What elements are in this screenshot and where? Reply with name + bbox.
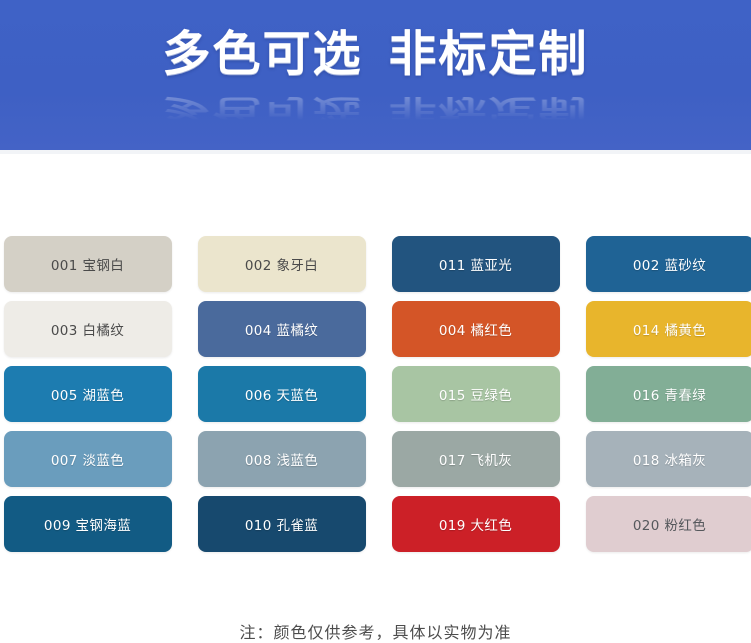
color-swatch-009-16[interactable]: 009 宝钢海蓝 [4, 496, 172, 552]
color-swatch-label: 009 宝钢海蓝 [44, 514, 131, 534]
color-swatch-label: 020 粉红色 [633, 514, 706, 534]
color-swatch-015-10[interactable]: 015 豆绿色 [392, 366, 560, 422]
color-swatch-label: 004 橘红色 [439, 319, 512, 339]
color-swatch-label: 005 湖蓝色 [51, 384, 124, 404]
color-swatch-label: 006 天蓝色 [245, 384, 318, 404]
color-swatch-007-12[interactable]: 007 淡蓝色 [4, 431, 172, 487]
color-swatch-016-11[interactable]: 016 青春绿 [586, 366, 751, 422]
color-swatch-006-9[interactable]: 006 天蓝色 [198, 366, 366, 422]
color-swatch-label: 017 飞机灰 [439, 449, 512, 469]
color-swatch-010-17[interactable]: 010 孔雀蓝 [198, 496, 366, 552]
color-swatch-004-5[interactable]: 004 蓝橘纹 [198, 301, 366, 357]
banner-title-part2: 非标定制 [389, 26, 589, 82]
color-swatch-label: 008 浅蓝色 [245, 449, 318, 469]
color-swatch-label: 014 橘黄色 [633, 319, 706, 339]
color-swatch-004-6[interactable]: 004 橘红色 [392, 301, 560, 357]
banner-title-part1: 多色可选 [162, 26, 362, 82]
color-swatch-label: 019 大红色 [439, 514, 512, 534]
color-swatch-005-8[interactable]: 005 湖蓝色 [4, 366, 172, 422]
color-swatch-017-14[interactable]: 017 飞机灰 [392, 431, 560, 487]
color-swatch-002-3[interactable]: 002 蓝砂纹 [586, 236, 751, 292]
banner-reflection-part1: 多色可选 [162, 93, 362, 128]
color-swatch-014-7[interactable]: 014 橘黄色 [586, 301, 751, 357]
banner-reflection-part2: 非标定制 [389, 93, 589, 128]
banner-text-block: 多色可选非标定制 多色可选非标定制 [0, 30, 751, 150]
color-swatch-001-0[interactable]: 001 宝钢白 [4, 236, 172, 292]
color-swatch-label: 007 淡蓝色 [51, 449, 124, 469]
color-swatch-label: 002 蓝砂纹 [633, 254, 706, 274]
banner-title-reflection: 多色可选非标定制 [0, 95, 751, 125]
color-swatch-label: 016 青春绿 [633, 384, 706, 404]
color-swatch-008-13[interactable]: 008 浅蓝色 [198, 431, 366, 487]
color-swatch-018-15[interactable]: 018 冰箱灰 [586, 431, 751, 487]
color-swatch-020-19[interactable]: 020 粉红色 [586, 496, 751, 552]
color-swatch-003-4[interactable]: 003 白橘纹 [4, 301, 172, 357]
color-swatch-002-1[interactable]: 002 象牙白 [198, 236, 366, 292]
color-swatch-011-2[interactable]: 011 蓝亚光 [392, 236, 560, 292]
color-swatch-label: 010 孔雀蓝 [245, 514, 318, 534]
color-swatch-label: 003 白橘纹 [51, 319, 124, 339]
footer-note: 注：颜色仅供参考，具体以实物为准 [0, 619, 751, 643]
color-swatch-grid: 001 宝钢白002 象牙白011 蓝亚光002 蓝砂纹003 白橘纹004 蓝… [0, 236, 751, 552]
header-banner: 多色可选非标定制 多色可选非标定制 [0, 0, 751, 150]
banner-title: 多色可选非标定制 [0, 30, 751, 79]
color-swatch-label: 015 豆绿色 [439, 384, 512, 404]
color-swatch-label: 002 象牙白 [245, 254, 318, 274]
color-swatch-label: 004 蓝橘纹 [245, 319, 318, 339]
color-swatch-label: 011 蓝亚光 [439, 254, 512, 274]
color-swatch-019-18[interactable]: 019 大红色 [392, 496, 560, 552]
color-swatch-label: 001 宝钢白 [51, 254, 124, 274]
color-palette-panel: 001 宝钢白002 象牙白011 蓝亚光002 蓝砂纹003 白橘纹004 蓝… [0, 154, 751, 637]
color-swatch-label: 018 冰箱灰 [633, 449, 706, 469]
